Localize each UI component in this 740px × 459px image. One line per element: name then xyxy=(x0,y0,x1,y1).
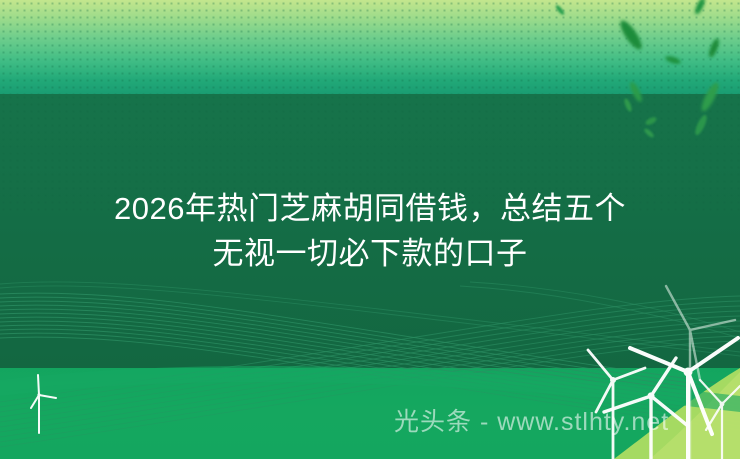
poster-title: 2026年热门芝麻胡同借钱，总结五个 无视一切必下款的口子 xyxy=(0,186,740,276)
title-line-2: 无视一切必下款的口子 xyxy=(0,231,740,276)
poster-canvas: 2026年热门芝麻胡同借钱，总结五个 无视一切必下款的口子 光头条 - www.… xyxy=(0,0,740,459)
halftone-dot-texture xyxy=(0,0,740,94)
title-line-1: 2026年热门芝麻胡同借钱，总结五个 xyxy=(0,186,740,231)
site-watermark: 光头条 - www.stlhty.net xyxy=(394,405,669,439)
